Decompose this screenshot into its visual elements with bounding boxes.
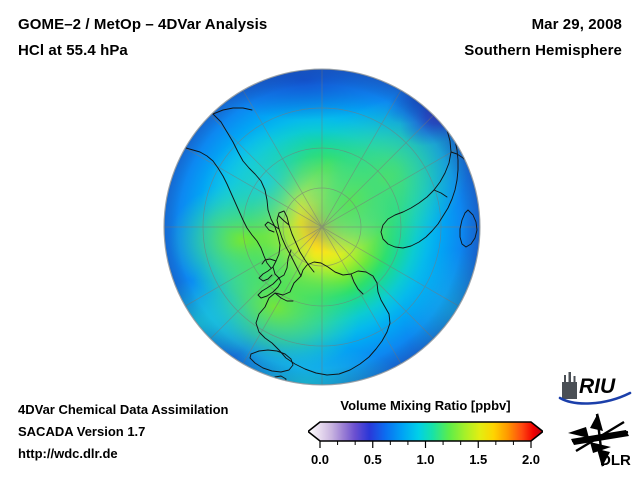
riu-wordmark: RIU bbox=[579, 375, 616, 398]
colorbar-tick-label: 0.5 bbox=[364, 452, 382, 467]
colorbar-tick-label: 0.0 bbox=[311, 452, 329, 467]
footer-line-url: http://wdc.dlr.de bbox=[18, 446, 118, 461]
colorbar: Volume Mixing Ratio [ppbv] 0.00.51.01.52… bbox=[308, 398, 543, 468]
hemisphere-label: Southern Hemisphere bbox=[464, 42, 622, 59]
date-label: Mar 29, 2008 bbox=[532, 16, 622, 33]
colorbar-title: Volume Mixing Ratio [ppbv] bbox=[308, 398, 543, 413]
dlr-logo: DLR bbox=[566, 411, 634, 469]
orthographic-projection bbox=[155, 62, 485, 392]
field-raster bbox=[155, 62, 485, 392]
colorbar-ticks bbox=[320, 441, 531, 448]
colorbar-scale: 0.00.51.01.52.0 bbox=[308, 418, 543, 468]
colorbar-tick-label: 1.0 bbox=[416, 452, 434, 467]
globe-map-panel bbox=[155, 62, 485, 392]
riu-logo: RIU bbox=[558, 369, 634, 405]
footer-line-assimilation: 4DVar Chemical Data Assimilation bbox=[18, 402, 229, 417]
dlr-wordmark: DLR bbox=[600, 452, 631, 469]
colorbar-tick-label: 1.5 bbox=[469, 452, 487, 467]
colorbar-tick-label: 2.0 bbox=[522, 452, 540, 467]
footer-line-version: SACADA Version 1.7 bbox=[18, 424, 145, 439]
page-title: GOME–2 / MetOp – 4DVar Analysis bbox=[18, 16, 267, 33]
colorbar-tick-labels: 0.00.51.01.52.0 bbox=[311, 452, 540, 467]
riu-tower-icon bbox=[562, 372, 577, 399]
species-subtitle: HCl at 55.4 hPa bbox=[18, 42, 128, 59]
